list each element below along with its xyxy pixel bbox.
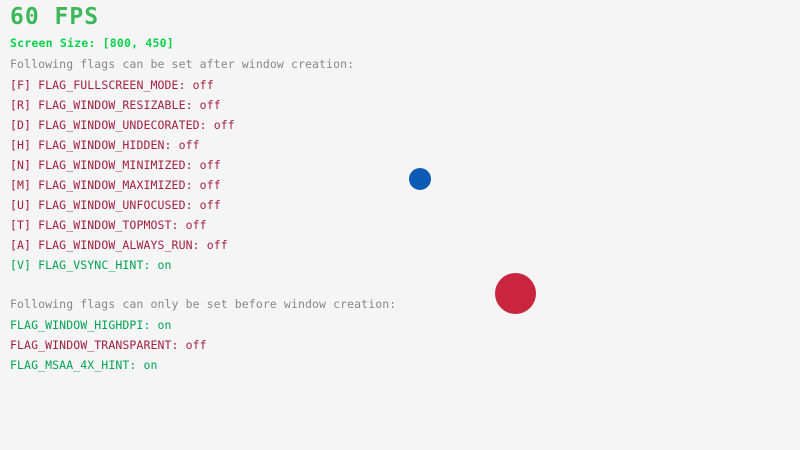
flag-name: FLAG_WINDOW_MAXIMIZED: [38,178,193,192]
flag-row[interactable]: [U] FLAG_WINDOW_UNFOCUSED: off [10,200,221,212]
section-heading-before-creation: Following flags can only be set before w… [10,299,396,311]
flag-row[interactable]: [M] FLAG_WINDOW_MAXIMIZED: off [10,180,221,192]
flag-shortcut-key: [R] [10,98,31,112]
flag-shortcut-key: [T] [10,218,31,232]
flag-name: FLAG_WINDOW_HIGHDPI: [10,318,150,332]
flag-value: off [207,238,228,252]
flag-name: FLAG_WINDOW_RESIZABLE: [38,98,193,112]
flag-value: off [200,158,221,172]
flag-shortcut-key: [F] [10,78,31,92]
flag-name: FLAG_WINDOW_MINIMIZED: [38,158,193,172]
flag-row[interactable]: [V] FLAG_VSYNC_HINT: on [10,260,172,272]
screen-size-label: Screen Size: [800, 450] [10,38,174,50]
flag-row[interactable]: [F] FLAG_FULLSCREEN_MODE: off [10,80,214,92]
raylib-window-canvas: 60 FPS Screen Size: [800, 450] Following… [0,0,800,450]
flag-row[interactable]: [A] FLAG_WINDOW_ALWAYS_RUN: off [10,240,228,252]
blue-ball [409,168,431,190]
flag-shortcut-key: [M] [10,178,31,192]
flag-value: off [179,138,200,152]
flag-row[interactable]: [T] FLAG_WINDOW_TOPMOST: off [10,220,207,232]
flag-name: FLAG_VSYNC_HINT: [38,258,150,272]
section-heading-after-creation: Following flags can be set after window … [10,59,354,71]
red-ball [495,273,536,314]
flag-value: on [158,318,172,332]
flag-value: off [186,338,207,352]
flag-row[interactable]: [N] FLAG_WINDOW_MINIMIZED: off [10,160,221,172]
flag-value: off [193,78,214,92]
flag-row[interactable]: FLAG_WINDOW_HIGHDPI: on [10,320,172,332]
flag-row[interactable]: FLAG_MSAA_4X_HINT: on [10,360,158,372]
flag-value: off [186,218,207,232]
flag-shortcut-key: [N] [10,158,31,172]
flag-value: on [158,258,172,272]
flag-row[interactable]: FLAG_WINDOW_TRANSPARENT: off [10,340,207,352]
fps-counter: 60 FPS [10,6,99,29]
flag-name: FLAG_WINDOW_UNFOCUSED: [38,198,193,212]
flag-name: FLAG_WINDOW_TRANSPARENT: [10,338,179,352]
flag-value: off [214,118,235,132]
flag-shortcut-key: [U] [10,198,31,212]
flag-name: FLAG_WINDOW_UNDECORATED: [38,118,207,132]
flag-shortcut-key: [V] [10,258,31,272]
flag-value: off [200,178,221,192]
flag-value: off [200,198,221,212]
flag-row[interactable]: [H] FLAG_WINDOW_HIDDEN: off [10,140,200,152]
flag-name: FLAG_FULLSCREEN_MODE: [38,78,186,92]
flag-shortcut-key: [A] [10,238,31,252]
flag-name: FLAG_WINDOW_ALWAYS_RUN: [38,238,200,252]
flag-name: FLAG_MSAA_4X_HINT: [10,358,136,372]
flag-name: FLAG_WINDOW_HIDDEN: [38,138,171,152]
flag-value: on [143,358,157,372]
flag-row[interactable]: [D] FLAG_WINDOW_UNDECORATED: off [10,120,235,132]
flag-row[interactable]: [R] FLAG_WINDOW_RESIZABLE: off [10,100,221,112]
flag-shortcut-key: [D] [10,118,31,132]
flag-shortcut-key: [H] [10,138,31,152]
flag-name: FLAG_WINDOW_TOPMOST: [38,218,178,232]
flag-value: off [200,98,221,112]
